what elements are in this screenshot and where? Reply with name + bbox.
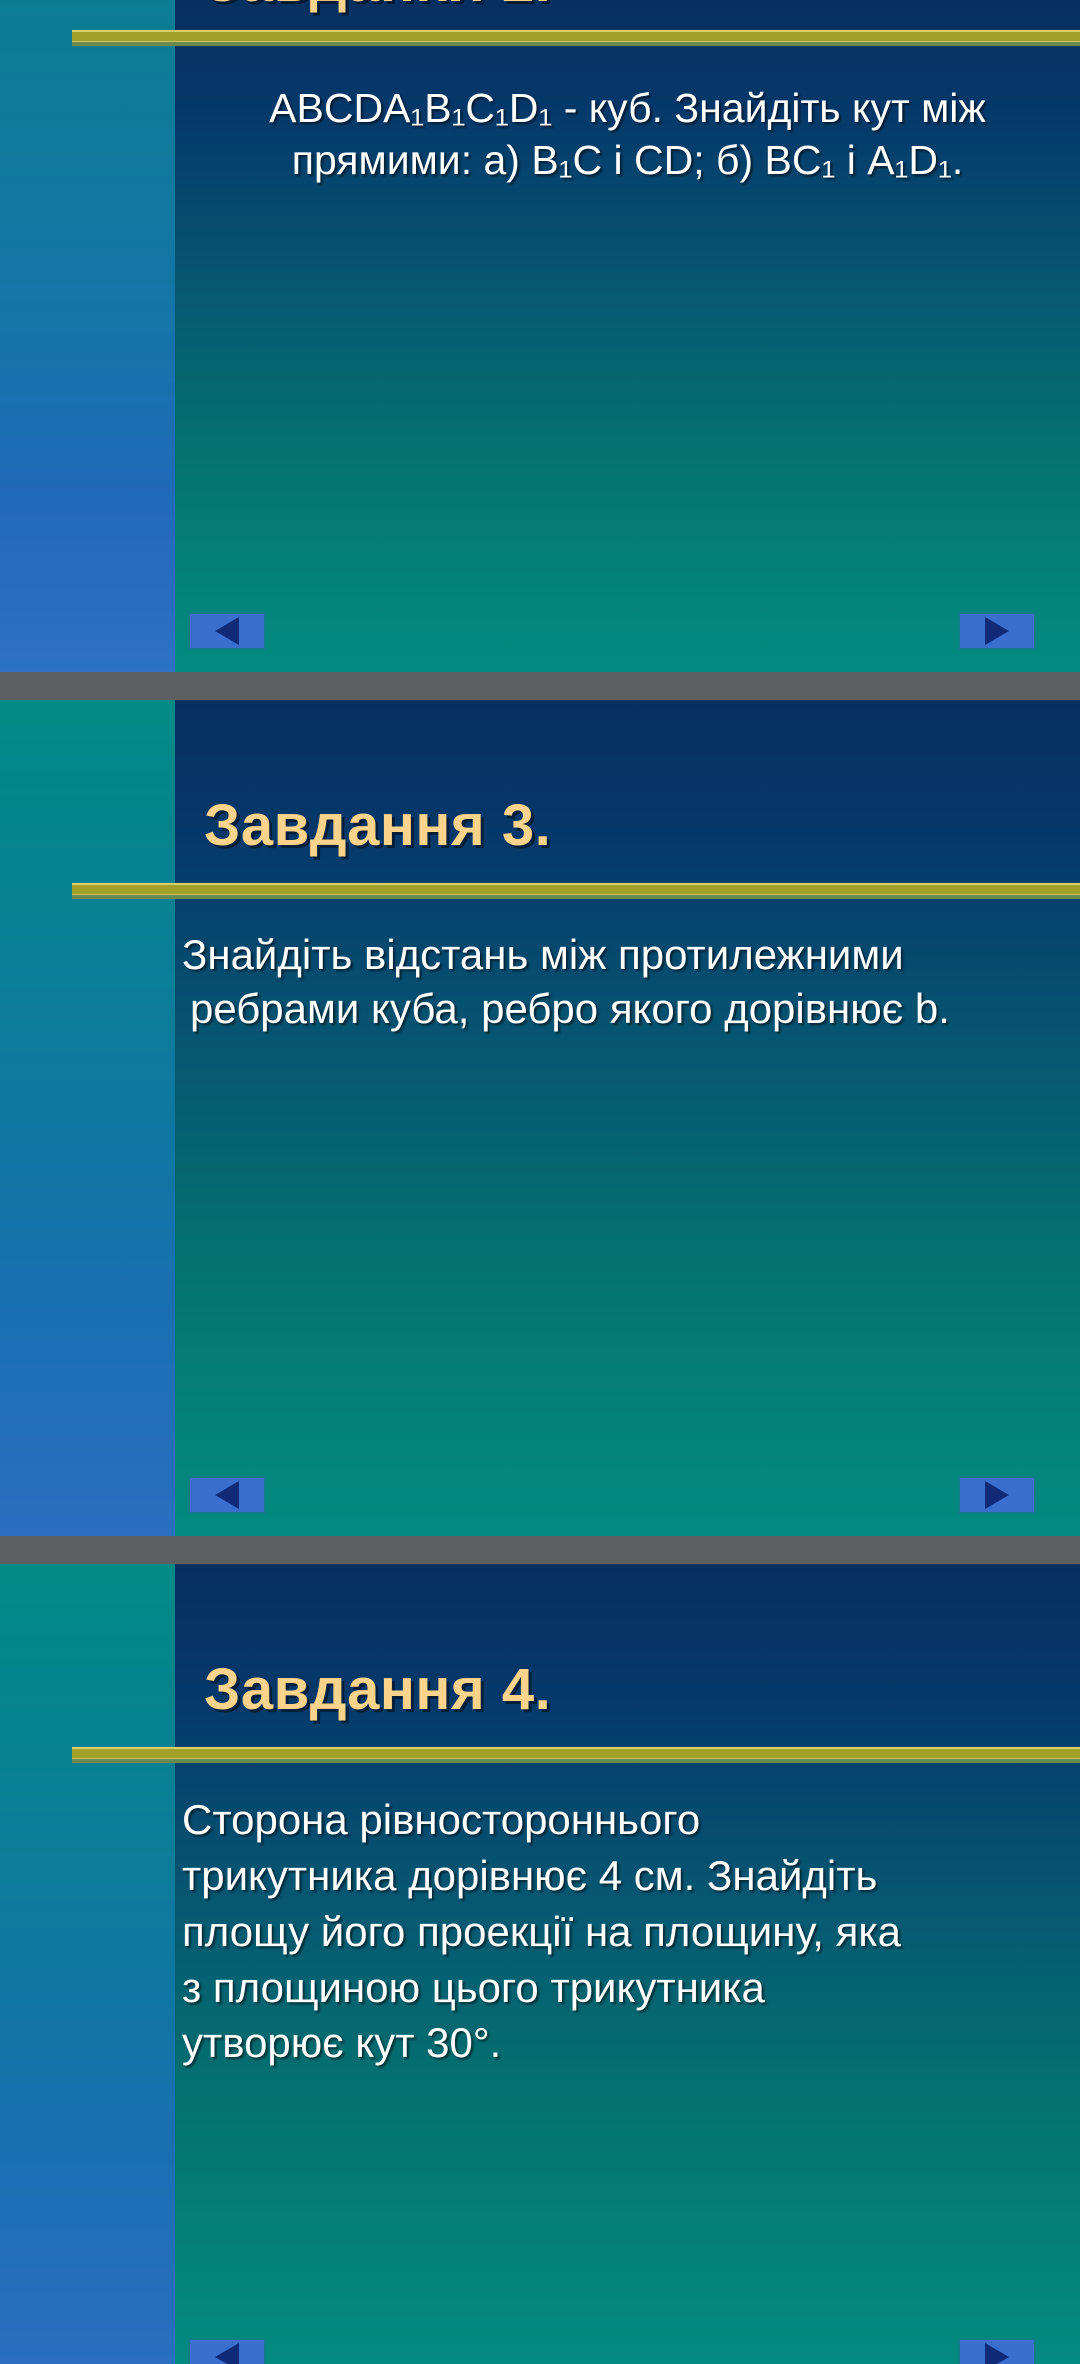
slide-3-body-line-1: Знайдіть відстань між протилежними bbox=[182, 928, 1072, 982]
slide-3-left-band bbox=[0, 700, 175, 1536]
slide-3-next-button[interactable] bbox=[958, 1476, 1036, 1514]
slide-4-body-line-3: площу його проекції на площину, яка bbox=[182, 1904, 1072, 1960]
slide-divider-2 bbox=[0, 1536, 1080, 1564]
arrow-right-icon bbox=[985, 2343, 1009, 2364]
slide-4-left-band bbox=[0, 1564, 175, 2364]
arrow-right-icon bbox=[985, 1481, 1009, 1509]
slide-4-body-line-1: Сторона рівностороннього bbox=[182, 1792, 1072, 1848]
gold-rule-main-bar bbox=[72, 1747, 1080, 1758]
slide-2-left-band bbox=[0, 0, 175, 672]
slide-4-prev-button[interactable] bbox=[188, 2338, 266, 2364]
arrow-right-icon bbox=[985, 617, 1009, 645]
slide-divider-1 bbox=[0, 672, 1080, 700]
slide-3-prev-button[interactable] bbox=[188, 1476, 266, 1514]
slide-4-title: Завдання 4. bbox=[204, 1656, 551, 1723]
slide-4-gold-rule bbox=[72, 1747, 1080, 1763]
slide-3-title: Завдання 3. bbox=[204, 792, 551, 859]
slide-2-body-line-2: прямими: а) B₁C і CD; б) BC₁ і A₁D₁. bbox=[185, 134, 1070, 186]
arrow-left-icon bbox=[215, 617, 239, 645]
slide-deck-scroll-view[interactable]: Завдання 2. ABCDA₁B₁C₁D₁ - куб. Знайдіть… bbox=[0, 0, 1080, 2340]
slide-2-body: ABCDA₁B₁C₁D₁ - куб. Знайдіть кут між пря… bbox=[185, 82, 1070, 187]
slide-2-gold-rule bbox=[72, 30, 1080, 46]
slide-2-body-line-1: ABCDA₁B₁C₁D₁ - куб. Знайдіть кут між bbox=[185, 82, 1070, 134]
slide-4-body-line-5: утворює кут 30°. bbox=[182, 2015, 1072, 2071]
slide-3-body: Знайдіть відстань між протилежними ребра… bbox=[182, 928, 1072, 1036]
arrow-left-icon bbox=[215, 2343, 239, 2364]
slide-3[interactable]: Завдання 3. Знайдіть відстань між протил… bbox=[0, 700, 1080, 1536]
gold-rule-sub-bar bbox=[72, 1758, 1080, 1763]
arrow-left-icon bbox=[215, 1481, 239, 1509]
slide-2[interactable]: Завдання 2. ABCDA₁B₁C₁D₁ - куб. Знайдіть… bbox=[0, 0, 1080, 672]
slide-2-prev-button[interactable] bbox=[188, 612, 266, 650]
slide-3-gold-rule bbox=[72, 883, 1080, 899]
gold-rule-sub-bar bbox=[72, 894, 1080, 899]
gold-rule-main-bar bbox=[72, 883, 1080, 894]
gold-rule-main-bar bbox=[72, 30, 1080, 41]
slide-4-body-line-4: з площиною цього трикутника bbox=[182, 1960, 1072, 2016]
slide-4-next-button[interactable] bbox=[958, 2338, 1036, 2364]
slide-4-body-line-2: трикутника дорівнює 4 см. Знайдіть bbox=[182, 1848, 1072, 1904]
slide-2-next-button[interactable] bbox=[958, 612, 1036, 650]
slide-2-title: Завдання 2. bbox=[204, 0, 551, 15]
slide-4-body: Сторона рівностороннього трикутника дорі… bbox=[182, 1792, 1072, 2071]
slide-3-body-line-2: ребрами куба, ребро якого дорівнює b. bbox=[190, 982, 1072, 1036]
slide-4[interactable]: Завдання 4. Сторона рівностороннього три… bbox=[0, 1564, 1080, 2364]
gold-rule-sub-bar bbox=[72, 41, 1080, 46]
